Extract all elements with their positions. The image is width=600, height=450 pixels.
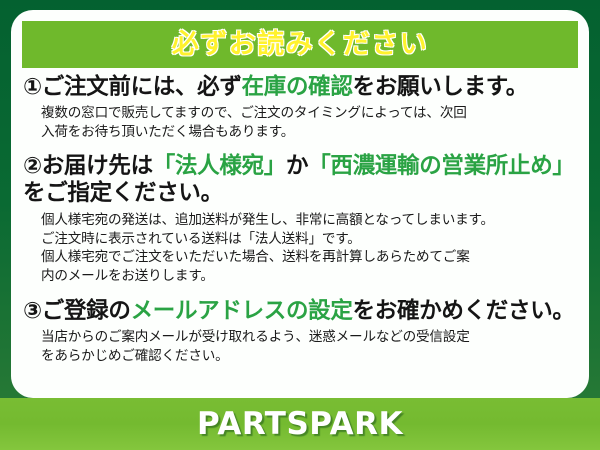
section-2-detail-line-3: 個人様宅宛でご注文をいただいた場合、送料を再計算しあらためてご案 xyxy=(41,248,579,267)
section-2-headline-highlight-2: 「西濃運輸の営業所止め」 xyxy=(308,153,574,179)
section-2-detail: 個人様宅宛の発送は、追加送料が発生し、非常に高額となってしまいます。 ご注文時に… xyxy=(23,211,579,286)
section-2-detail-line-4: 内のメールをお送りします。 xyxy=(41,267,579,286)
notice-card: 必ずお読みください ①ご注文前には、必ず在庫の確認をお願いします。 複数の窓口で… xyxy=(11,10,589,398)
notice-content: ①ご注文前には、必ず在庫の確認をお願いします。 複数の窓口で販売してますので、ご… xyxy=(11,72,589,368)
section-1-detail-line-2: 入荷をお待ち頂いただく場合もあります。 xyxy=(41,123,579,142)
banner-title: 必ずお読みください xyxy=(172,31,429,58)
notice-section-2: ②お届け先は「法人様宛」か「西濃運輸の営業所止め」をご指定ください。 個人様宅宛… xyxy=(23,153,579,286)
notice-section-3: ③ご登録のメールアドレスの設定をお確かめください。 当店からのご案内メールが受け… xyxy=(23,298,579,366)
section-3-headline-pre: ご登録の xyxy=(42,298,131,324)
section-3-headline-post: をお確かめください。 xyxy=(353,298,575,324)
section-3-marker: ③ xyxy=(23,298,42,324)
section-1-headline-post: をお願いします。 xyxy=(353,74,528,100)
section-1-headline-highlight: 在庫の確認 xyxy=(242,74,353,100)
section-3-headline: ③ご登録のメールアドレスの設定をお確かめください。 xyxy=(23,298,579,325)
section-3-headline-highlight: メールアドレスの設定 xyxy=(131,298,353,324)
section-2-headline-pre: お届け先は xyxy=(42,153,153,179)
section-1-headline: ①ご注文前には、必ず在庫の確認をお願いします。 xyxy=(23,74,579,101)
brand-name: PARTSPARK xyxy=(197,409,403,440)
notice-banner: 必ずお読みください ①ご注文前には、必ず在庫の確認をお願いします。 複数の窓口で… xyxy=(0,0,600,450)
section-3-detail-line-1: 当店からのご案内メールが受け取れるよう、迷惑メールなどの受信設定 xyxy=(41,328,579,347)
section-1-marker: ① xyxy=(23,74,42,100)
notice-section-1: ①ご注文前には、必ず在庫の確認をお願いします。 複数の窓口で販売してますので、ご… xyxy=(23,74,579,142)
section-2-marker: ② xyxy=(23,153,42,179)
brand-footer: PARTSPARK xyxy=(0,398,600,450)
section-1-detail-line-1: 複数の窓口で販売してますので、ご注文のタイミングによっては、次回 xyxy=(41,104,579,123)
title-band: 必ずお読みください xyxy=(22,21,578,68)
section-3-detail-line-2: をあらかじめご確認ください。 xyxy=(41,347,579,366)
section-2-headline: ②お届け先は「法人様宛」か「西濃運輸の営業所止め」をご指定ください。 xyxy=(23,153,579,208)
section-2-headline-highlight: 「法人様宛」 xyxy=(153,153,286,179)
section-2-headline-post: をご指定ください。 xyxy=(23,180,223,206)
section-2-detail-line-1: 個人様宅宛の発送は、追加送料が発生し、非常に高額となってしまいます。 xyxy=(41,211,579,230)
section-2-detail-line-2: ご注文時に表示されている送料は「法人送料」です。 xyxy=(41,230,579,249)
section-2-headline-mid: か xyxy=(286,153,308,179)
section-1-headline-pre: ご注文前には、必ず xyxy=(42,74,242,100)
section-3-detail: 当店からのご案内メールが受け取れるよう、迷惑メールなどの受信設定 をあらかじめご… xyxy=(23,328,579,366)
section-1-detail: 複数の窓口で販売してますので、ご注文のタイミングによっては、次回 入荷をお待ち頂… xyxy=(23,104,579,142)
